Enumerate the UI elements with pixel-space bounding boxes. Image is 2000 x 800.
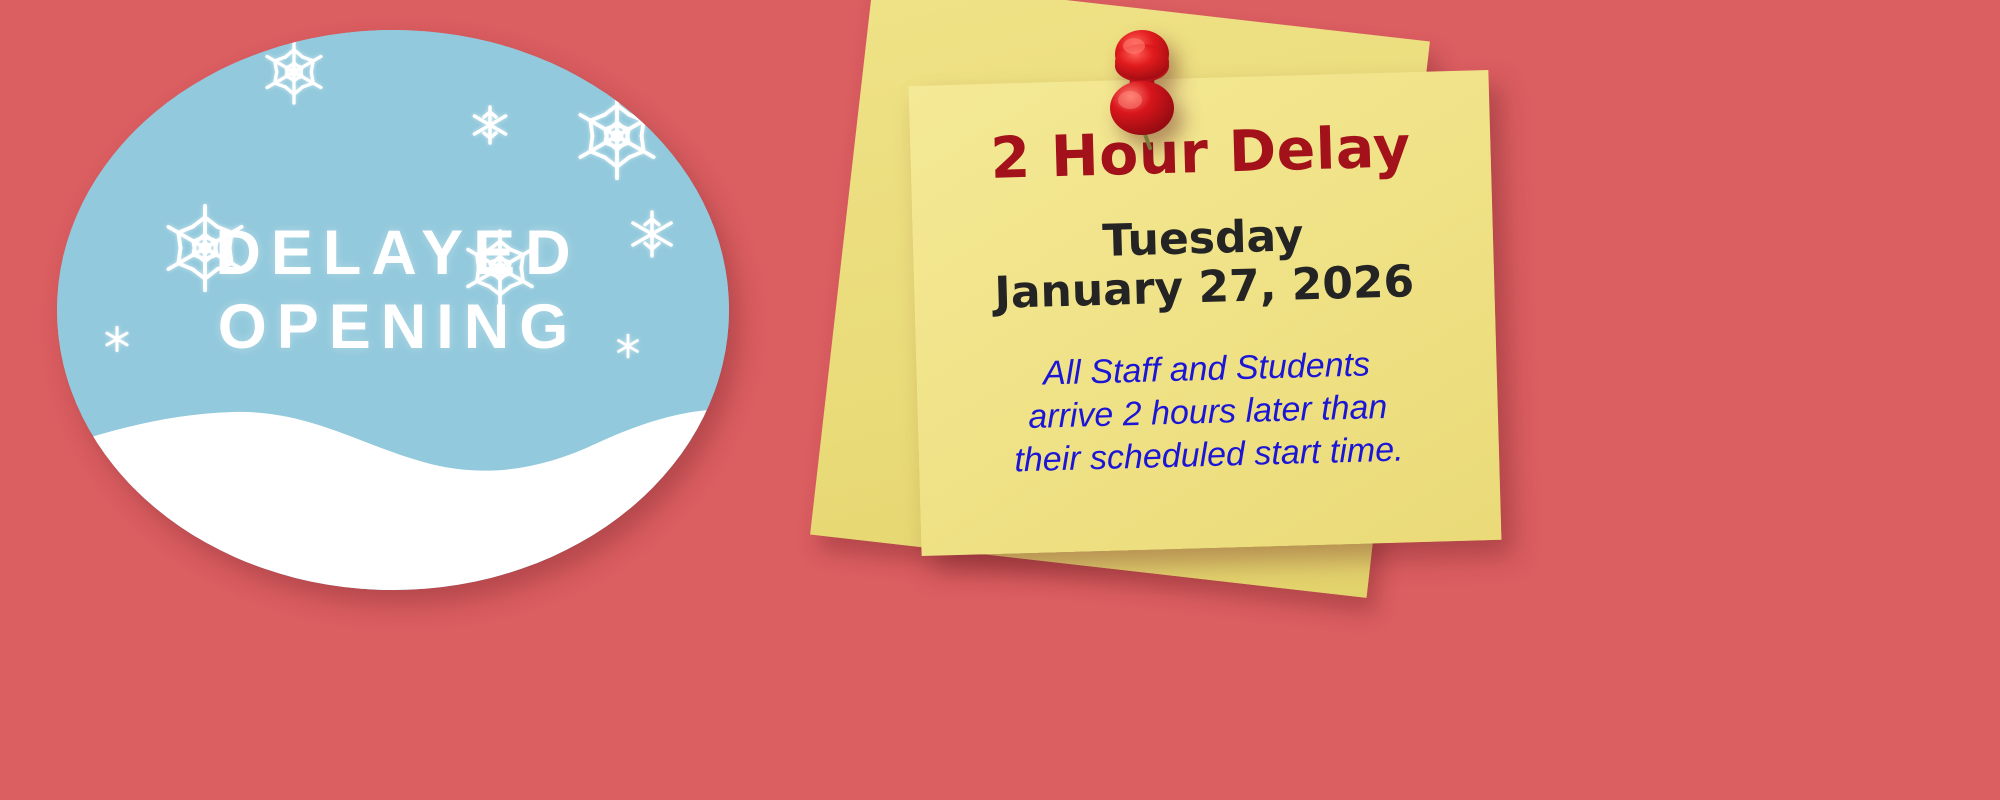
sticky-note-content: 2 Hour Delay Tuesday January 27, 2026 Al…	[909, 70, 1502, 556]
delayed-opening-line-1: DELAYED	[215, 218, 580, 288]
announcement-banner: DELAYED OPENING 2 Hour Delay Tuesday Jan…	[0, 0, 2000, 800]
sticky-note-front[interactable]: 2 Hour Delay Tuesday January 27, 2026 Al…	[909, 70, 1502, 556]
pushpin-icon	[1082, 22, 1202, 162]
delay-instructions: All Staff and Students arrive 2 hours la…	[942, 341, 1473, 484]
delay-date: Tuesday January 27, 2026	[938, 207, 1469, 320]
delayed-opening-graphic: DELAYED OPENING	[57, 30, 729, 590]
sticky-notes-group: 2 Hour Delay Tuesday January 27, 2026 Al…	[820, 0, 1920, 800]
snow-drift-shape	[57, 340, 729, 590]
